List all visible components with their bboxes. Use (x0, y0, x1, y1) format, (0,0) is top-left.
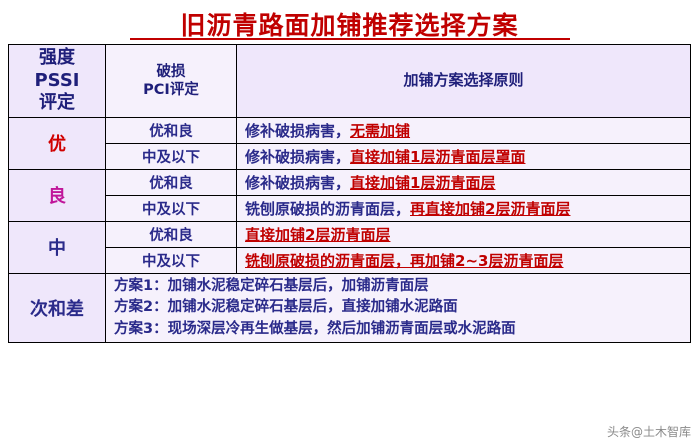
table-row: 良 优和良 修补破损病害，直接加铺1层沥青面层 (9, 169, 691, 195)
rule-cell: 铣刨原破损的沥青面层，再直接加铺2层沥青面层 (237, 195, 691, 221)
recommendation-table: 强度 PSSI 评定 破损 PCI评定 加铺方案选择原则 优 优和良 修补破损病… (8, 44, 691, 343)
table-row: 中 优和良 直接加铺2层沥青面层 (9, 221, 691, 247)
grade-cell-poor: 次和差 (9, 273, 106, 343)
table-row: 优 优和良 修补破损病害，无需加铺 (9, 117, 691, 143)
title-underline (130, 38, 570, 40)
rule-cell: 直接加铺2层沥青面层 (237, 221, 691, 247)
header-damage-line1: 破损 (110, 63, 232, 81)
rule-underline: 再直接加铺2层沥青面层 (410, 200, 570, 218)
grade-cell-good: 良 (9, 169, 106, 221)
rule-plain: 修补破损病害， (245, 148, 350, 166)
header-strength-line3: 评定 (13, 92, 101, 115)
rule-cell: 修补破损病害，直接加铺1层沥青面层罩面 (237, 143, 691, 169)
rule-underline: 铣刨原破损的沥青面层，再加铺2~3层沥青面层 (245, 252, 563, 270)
table-header-row: 强度 PSSI 评定 破损 PCI评定 加铺方案选择原则 (9, 45, 691, 118)
rule-cell: 铣刨原破损的沥青面层，再加铺2~3层沥青面层 (237, 247, 691, 273)
pci-cell: 中及以下 (106, 195, 237, 221)
table-row: 中及以下 修补破损病害，直接加铺1层沥青面层罩面 (9, 143, 691, 169)
header-overlay-principle: 加铺方案选择原则 (237, 45, 691, 118)
rule-line-1: 方案1：加铺水泥稳定碎石基层后，加铺沥青面层 (114, 276, 686, 298)
pci-cell: 优和良 (106, 221, 237, 247)
rule-plain: 修补破损病害， (245, 174, 350, 192)
rule-underline: 直接加铺1层沥青面层罩面 (350, 148, 525, 166)
header-strength-line1: 强度 (13, 47, 101, 70)
rule-plain: 修补破损病害， (245, 122, 350, 140)
rule-cell: 修补破损病害，无需加铺 (237, 117, 691, 143)
grade-cell-medium: 中 (9, 221, 106, 273)
rule-underline: 直接加铺2层沥青面层 (245, 226, 390, 244)
table-row: 中及以下 铣刨原破损的沥青面层，再直接加铺2层沥青面层 (9, 195, 691, 221)
rule-underline: 无需加铺 (350, 122, 410, 140)
rule-cell: 修补破损病害，直接加铺1层沥青面层 (237, 169, 691, 195)
table-row-poor: 次和差 方案1：加铺水泥稳定碎石基层后，加铺沥青面层 方案2：加铺水泥稳定碎石基… (9, 273, 691, 343)
header-damage-pci: 破损 PCI评定 (106, 45, 237, 118)
header-strength-pssi: 强度 PSSI 评定 (9, 45, 106, 118)
pci-cell: 中及以下 (106, 143, 237, 169)
header-strength-line2: PSSI (13, 70, 101, 93)
document-page: 旧沥青路面加铺推荐选择方案 强度 PSSI 评定 破损 PCI评定 加铺方案选择… (0, 0, 699, 443)
page-title: 旧沥青路面加铺推荐选择方案 (0, 6, 699, 42)
rule-underline: 直接加铺1层沥青面层 (350, 174, 495, 192)
pci-cell: 优和良 (106, 169, 237, 195)
header-damage-line2: PCI评定 (110, 81, 232, 99)
pci-cell: 中及以下 (106, 247, 237, 273)
rule-plain: 铣刨原破损的沥青面层， (245, 200, 410, 218)
grade-cell-excellent: 优 (9, 117, 106, 169)
rule-cell-poor: 方案1：加铺水泥稳定碎石基层后，加铺沥青面层 方案2：加铺水泥稳定碎石基层后，直… (106, 273, 691, 343)
rule-line-3: 方案3：现场深层冷再生做基层，然后加铺沥青面层或水泥路面 (114, 319, 686, 341)
pci-cell: 优和良 (106, 117, 237, 143)
watermark-text: 头条@土木智库 (607, 423, 691, 440)
rule-line-2: 方案2：加铺水泥稳定碎石基层后，直接加铺水泥路面 (114, 297, 686, 319)
table-row: 中及以下 铣刨原破损的沥青面层，再加铺2~3层沥青面层 (9, 247, 691, 273)
